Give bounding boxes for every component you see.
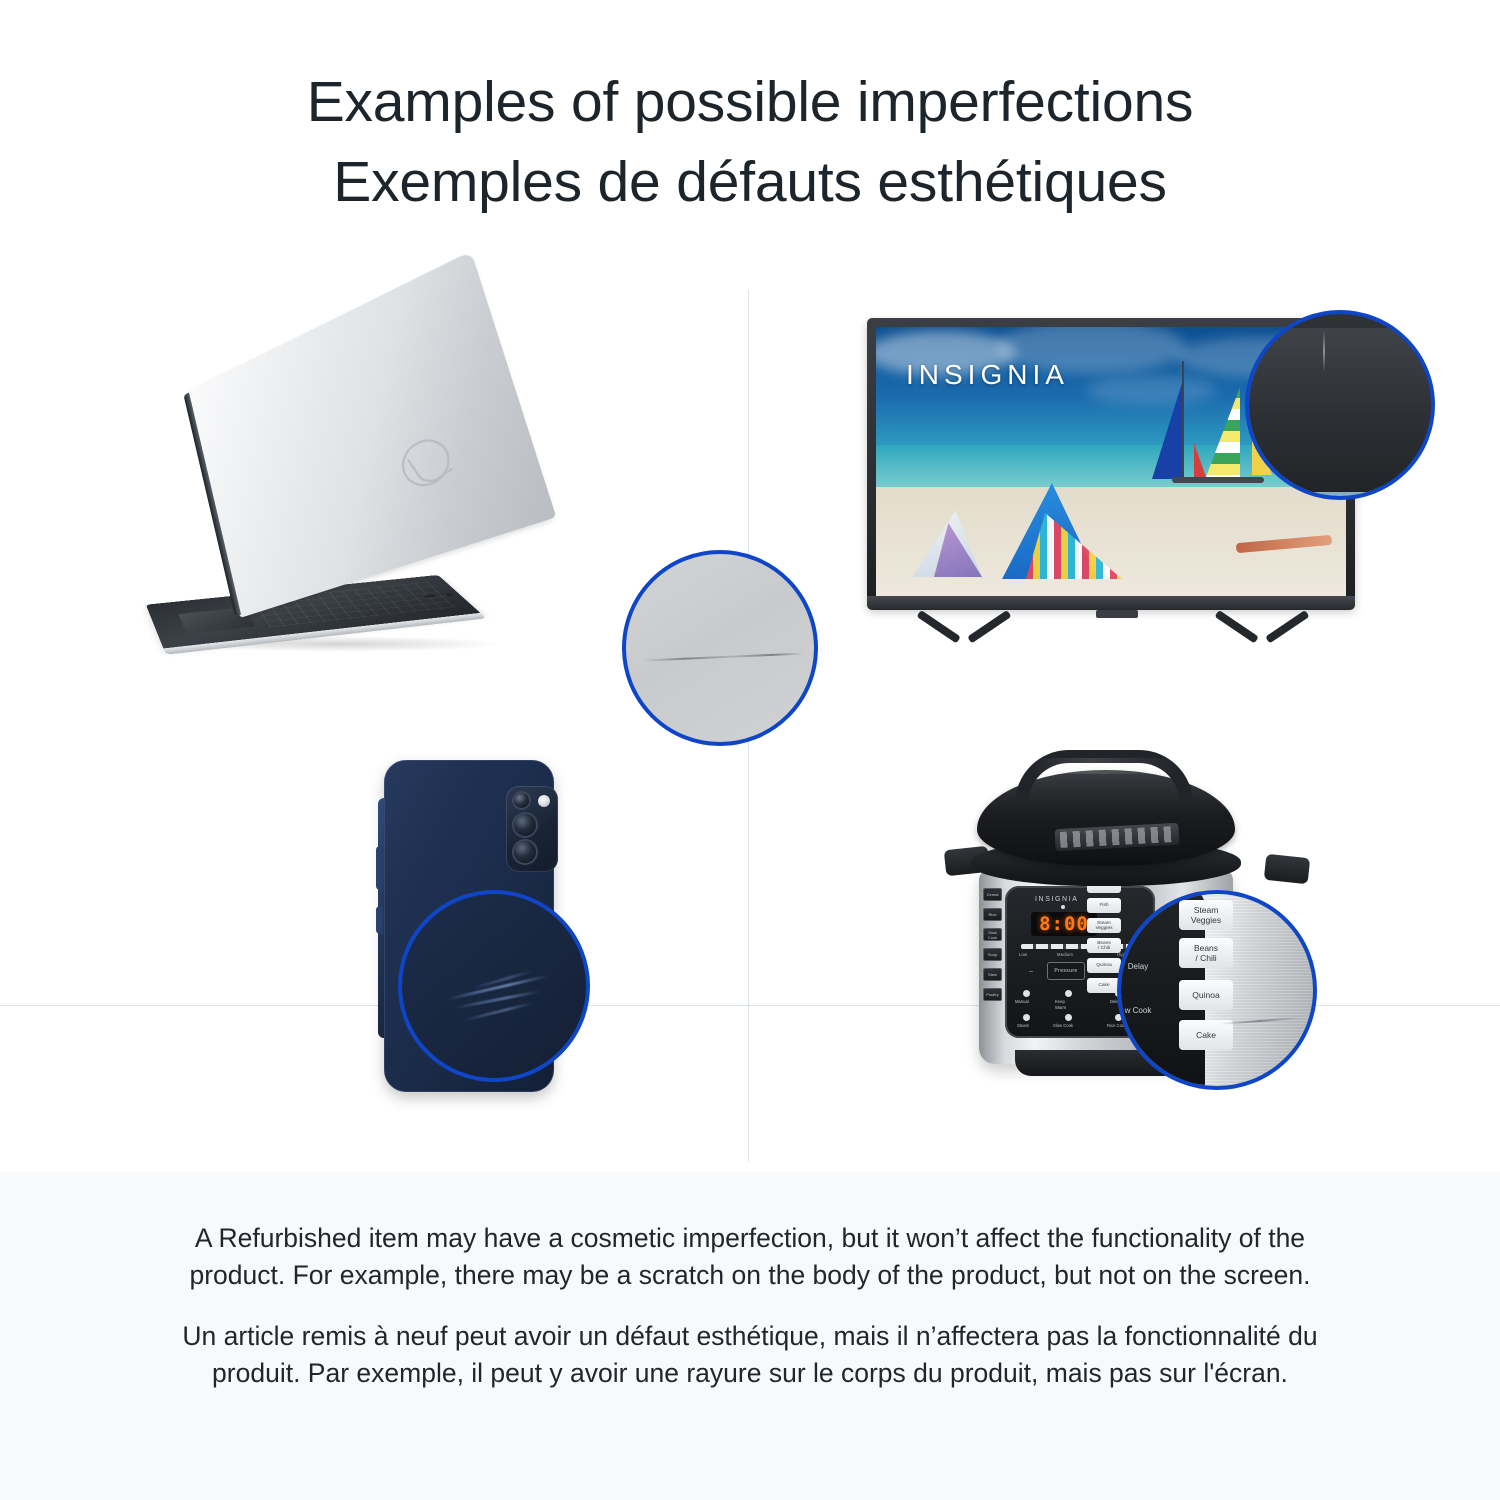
pressure-button[interactable]: Pressure [1047,962,1085,980]
grid-button-label: Steam [1017,1023,1029,1028]
camera-lens-icon [514,814,536,836]
tv-ir-badge [1096,610,1138,618]
magnified-left-button[interactable]: Delay [1117,956,1159,976]
flash-icon [538,795,550,807]
magnifier-circle-television [1245,310,1435,500]
grid-button [1023,990,1030,997]
magnified-right-button[interactable]: Cake [1179,1020,1233,1050]
laptop-lid [187,251,556,618]
status-led [1061,905,1065,909]
cooker-brand-text: INSIGNIA [1035,896,1079,903]
magnified-corner [1249,314,1431,496]
description-english: A Refurbished item may have a cosmetic i… [150,1220,1350,1294]
product-cell-laptop [0,278,748,727]
tv-brand-text: INSIGNIA [906,359,1069,391]
tv-bottom-bezel [867,596,1355,610]
minus-sign: – [1029,968,1033,975]
label-medium: Medium [1057,952,1073,957]
product-cell-pressure-cooker: INSIGNIA 8:00 Low Medium High Pressure – [749,728,1500,1172]
grid-button-label: Manual [1015,999,1029,1004]
right-button[interactable]: SteamVeggies [1087,918,1121,933]
magnified-right-button[interactable]: SteamVeggies [1179,900,1233,930]
laptop-illustration [160,368,580,668]
grid-button-label: Warm [1055,1005,1066,1010]
description-french: Un article remis à neuf peut avoir un dé… [150,1318,1350,1392]
left-button[interactable]: Cereal [983,888,1002,901]
page-title: Examples of possible imperfections Exemp… [0,62,1500,222]
magnifier-circle-smartphone [398,890,590,1082]
grid-button [1065,990,1072,997]
camera-lens-icon [514,793,529,808]
pressure-cooker-illustration: INSIGNIA 8:00 Low Medium High Pressure – [945,744,1315,1134]
magnified-left-button[interactable]: w Cook [1117,1000,1159,1020]
left-button[interactable]: Poultry [983,988,1002,1001]
brand-logo-icon [397,432,456,493]
tv-leg-left [921,610,1007,652]
grid-button-label: Slow Cook [1053,1023,1073,1028]
left-button-column: Cereal Rice SlowCook Soup Stew Poultry [983,888,1003,1008]
product-cell-smartphone [0,728,748,1172]
title-english: Examples of possible imperfections [0,62,1500,142]
product-cell-television: INSIGNIA [749,278,1500,727]
camera-lens-icon [514,841,536,863]
title-french: Exemples de défauts esthétiques [0,142,1500,222]
magnified-bezel [1245,328,1435,492]
product-grid: INSIGNIA [0,278,1500,1172]
infographic-page: Examples of possible imperfections Exemp… [0,0,1500,1500]
volume-button [376,846,383,890]
handle-highlight [1031,758,1179,774]
right-button[interactable]: Quinoa [1087,958,1121,973]
pressure-button-label: Pressure [1054,968,1077,974]
display-value: 8:00 [1039,913,1089,935]
camera-module [506,786,558,872]
smartphone-illustration [280,750,580,1130]
cloud-shape [1086,375,1216,405]
lid-vent-panel [1055,823,1180,851]
television-illustration: INSIGNIA [867,318,1377,698]
left-button[interactable]: Rice [983,908,1002,921]
cooker-handle-right [1264,854,1310,884]
magnified-right-button[interactable]: Quinoa [1179,980,1233,1010]
left-button[interactable]: Soup [983,948,1002,961]
magnified-right-button[interactable]: Beans/ Chili [1179,938,1233,968]
magnifier-circle-pressure-cooker: Delay w Cook SteamVeggies Beans/ Chili Q… [1117,890,1317,1090]
tv-leg-right [1219,610,1305,652]
left-button[interactable]: SlowCook [983,928,1002,941]
left-button[interactable]: Stew [983,968,1002,981]
sailboat-blue [1152,383,1182,479]
footer-description: A Refurbished item may have a cosmetic i… [0,1172,1500,1500]
power-button [376,906,383,934]
scratch-mark [1323,330,1325,372]
grid-button [1023,1014,1030,1021]
sail-mast [1182,361,1184,479]
lid-vent-slots [1060,826,1175,848]
right-button[interactable]: Beans/ Chili [1087,938,1121,953]
audio-port-icon [445,593,454,596]
right-button[interactable]: Cake [1087,978,1121,993]
grid-button-label: Keep [1055,999,1065,1004]
label-low: Low [1019,952,1027,957]
grid-button [1065,1014,1072,1021]
right-button[interactable]: Fish [1087,898,1121,913]
